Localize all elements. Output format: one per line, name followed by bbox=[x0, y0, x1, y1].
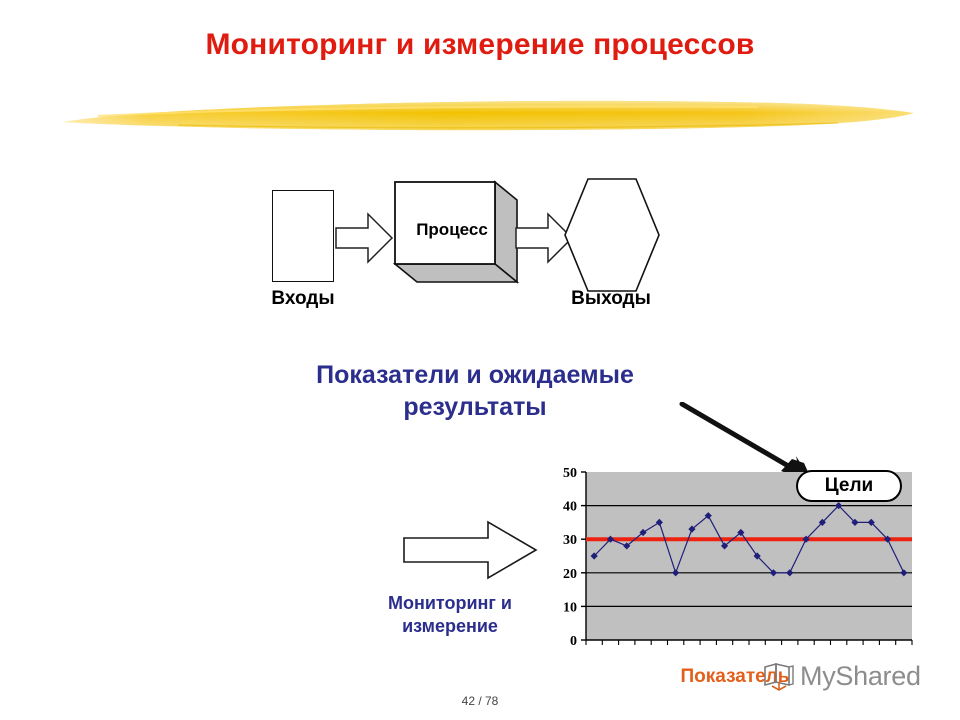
inputs-label: Входы bbox=[242, 288, 364, 310]
svg-text:10: 10 bbox=[563, 600, 577, 615]
indicators-heading-line1: Показатели и ожидаемые bbox=[240, 360, 710, 392]
page-title: Мониторинг и измерение процессов bbox=[0, 28, 960, 62]
svg-text:30: 30 bbox=[563, 533, 577, 548]
indicators-heading: Показатели и ожидаемые результаты bbox=[240, 360, 710, 423]
svg-text:0: 0 bbox=[570, 634, 577, 649]
outputs-shape bbox=[562, 176, 662, 294]
outputs-label: Выходы bbox=[550, 288, 672, 310]
goal-callout-badge: Цели bbox=[796, 470, 902, 502]
svg-text:20: 20 bbox=[563, 567, 577, 582]
page-number: 42 / 78 bbox=[0, 694, 960, 708]
inputs-shape bbox=[272, 190, 334, 282]
myshared-watermark: MyShared bbox=[762, 656, 921, 696]
process-shape bbox=[387, 178, 529, 304]
slide-root: Мониторинг и измерение процессов bbox=[0, 0, 960, 720]
myshared-logo-icon bbox=[762, 661, 796, 691]
brush-stroke-decoration bbox=[58, 82, 918, 138]
svg-text:40: 40 bbox=[563, 500, 577, 515]
indicator-line-chart: 01020304050 Цели bbox=[530, 462, 922, 652]
watermark-text: MyShared bbox=[800, 661, 921, 692]
arrow-inputs-to-process-icon bbox=[334, 212, 394, 264]
process-diagram: Процесс Входы Выходы bbox=[250, 160, 710, 325]
svg-text:50: 50 bbox=[563, 466, 577, 481]
indicators-heading-line2: результаты bbox=[240, 392, 710, 424]
process-label: Процесс bbox=[393, 220, 511, 240]
monitoring-block-arrow-icon bbox=[400, 518, 540, 582]
